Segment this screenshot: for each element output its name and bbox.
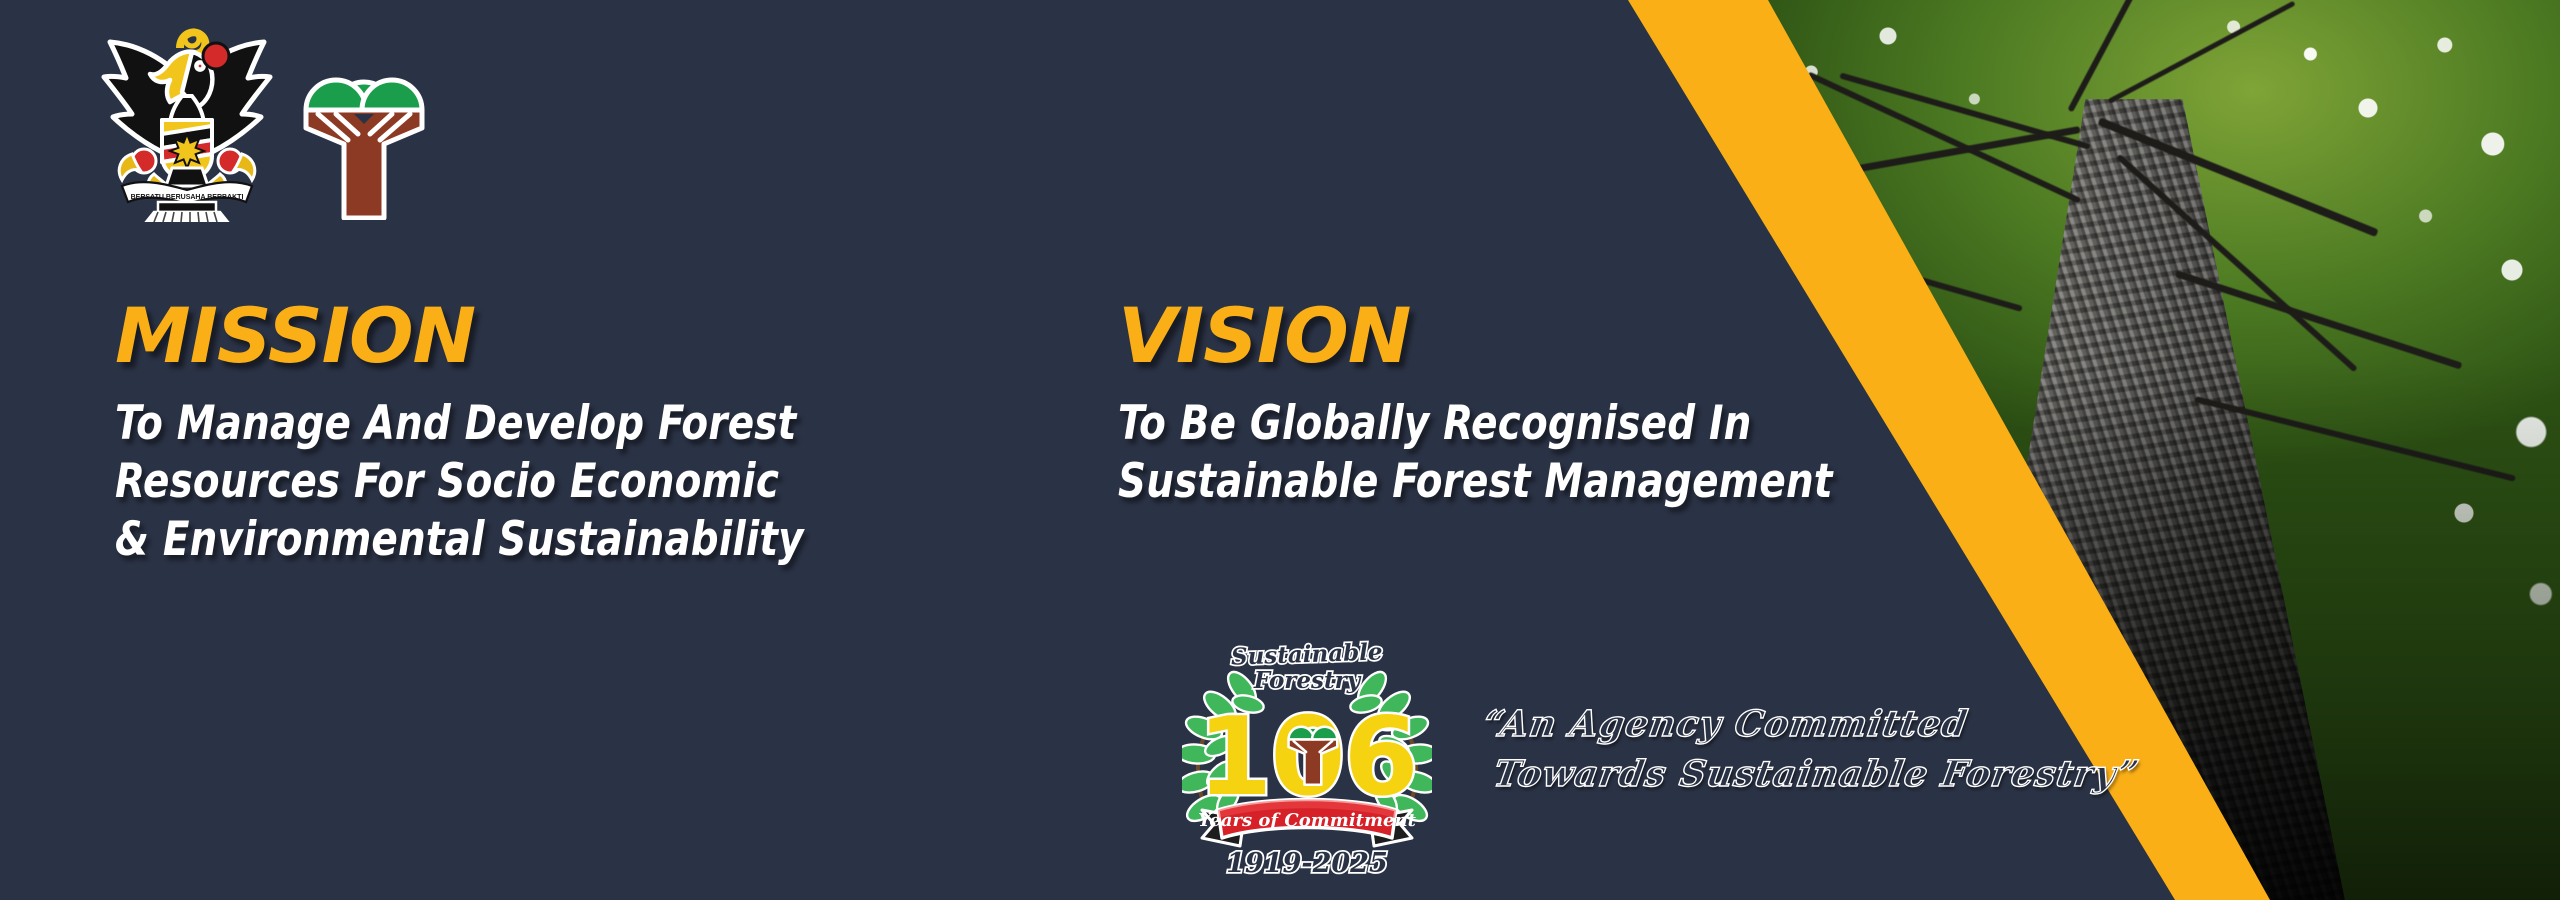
emblem-ribbon-text: Years of Commitment [1198, 810, 1416, 831]
vision-heading: VISION [1118, 300, 1895, 373]
mission-line-1: To Manage And Develop Forest [115, 395, 804, 453]
mission-block: MISSION To Manage And Develop Forest Res… [115, 300, 864, 568]
anniversary-emblem: Sustainable Forestry 106 [1182, 632, 1432, 884]
vision-line-2: Sustainable Forest Management [1118, 453, 1833, 511]
emblem-years: 1919-2025 [1226, 848, 1388, 879]
tagline: “An Agency Committed Towards Sustainable… [1472, 700, 2151, 799]
logo-row: BERSATU BERUSAHA BERBAKTI [96, 22, 428, 222]
tagline-line-1: “An Agency Committed [1480, 700, 2151, 750]
mission-heading: MISSION [115, 300, 864, 373]
vision-line-1: To Be Globally Recognised In [1118, 395, 1833, 453]
emblem-top-line2: Forestry [1253, 667, 1362, 694]
vision-block: VISION To Be Globally Recognised In Sust… [1118, 300, 1895, 511]
sarawak-coat-of-arms-icon: BERSATU BERUSAHA BERBAKTI [96, 22, 278, 222]
mission-line-2: Resources For Socio Economic [115, 453, 804, 511]
forest-department-tree-icon [300, 40, 428, 220]
emblem-top-line1: Sustainable [1231, 638, 1383, 670]
mission-line-3: & Environmental Sustainability [115, 511, 804, 569]
mission-vision-banner: BERSATU BERUSAHA BERBAKTI [0, 0, 2560, 900]
emblem-top-text: Sustainable Forestry [1231, 638, 1383, 694]
crest-motto: BERSATU BERUSAHA BERBAKTI [131, 194, 244, 201]
tagline-line-2: Towards Sustainable Forestry” [1472, 750, 2143, 800]
